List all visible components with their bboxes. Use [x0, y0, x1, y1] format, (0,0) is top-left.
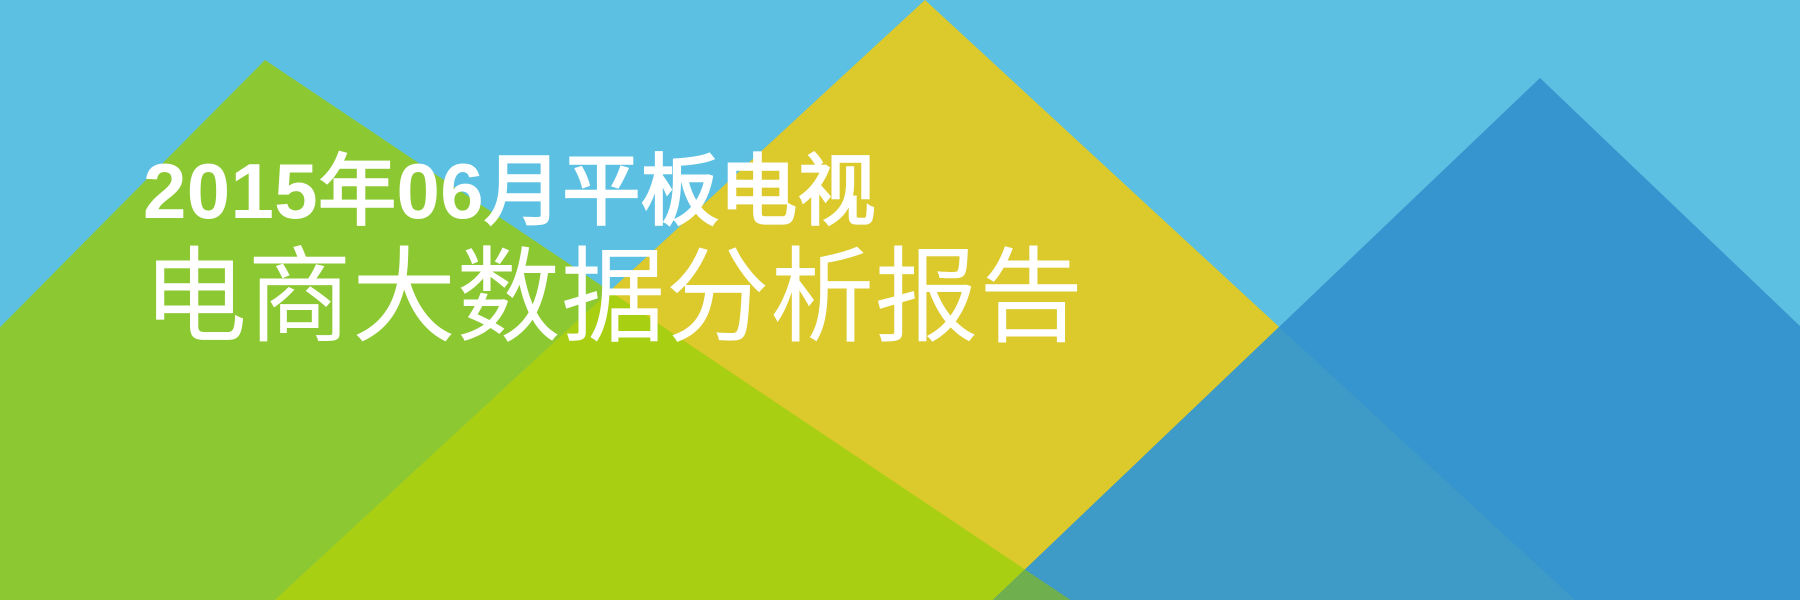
report-cover-banner: 2015年06月平板电视 电商大数据分析报告: [0, 0, 1800, 600]
decorative-mountain-background: [0, 0, 1800, 600]
